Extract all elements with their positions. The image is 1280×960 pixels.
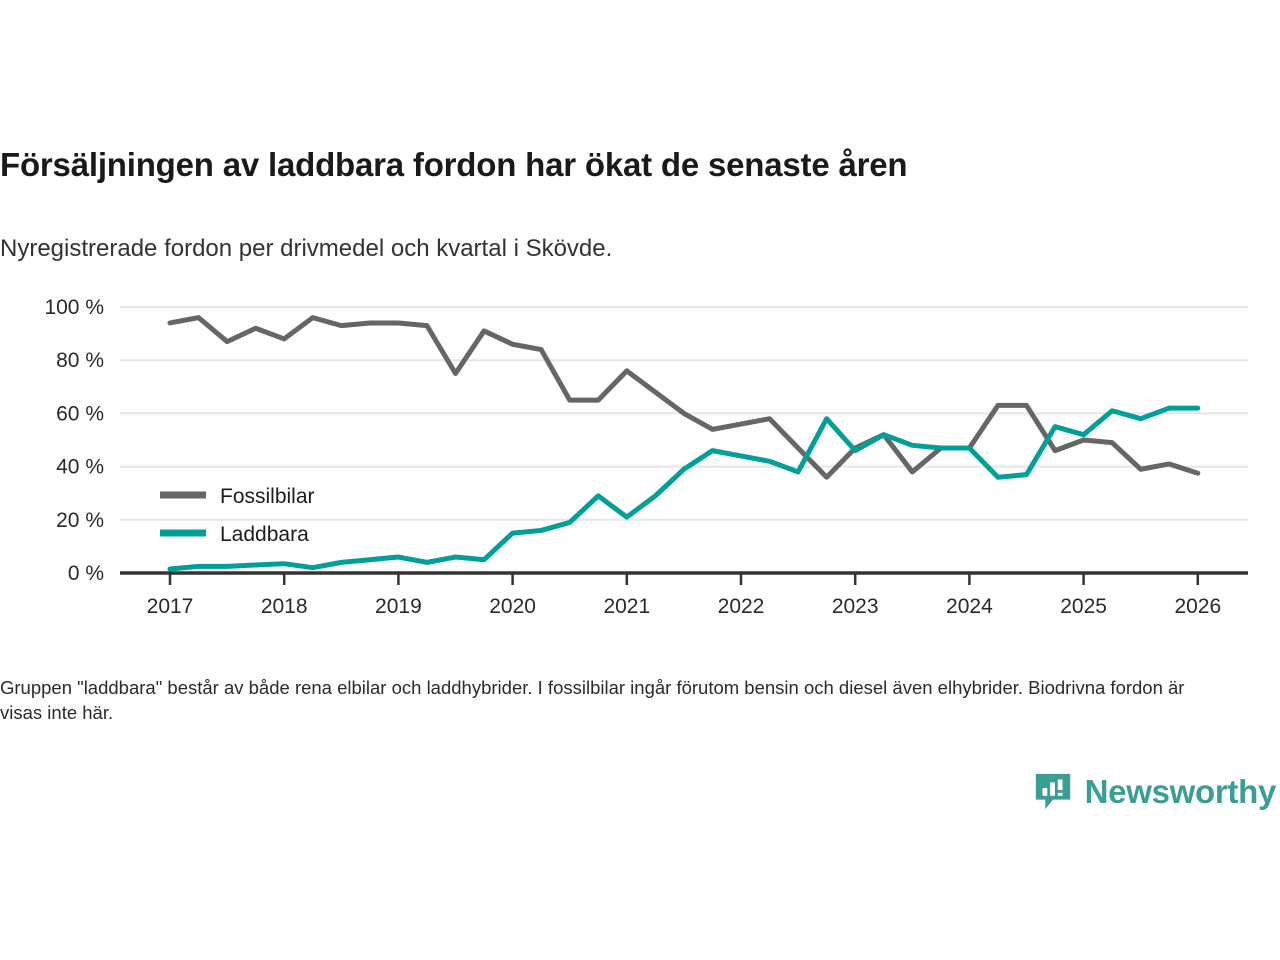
y-axis-tick-label: 80 % <box>56 349 104 372</box>
x-axis-tick-label: 2023 <box>832 595 879 618</box>
newsworthy-logo: Newsworthy <box>1032 770 1276 812</box>
y-axis-tick-label: 20 % <box>56 509 104 532</box>
logo-wordmark: Newsworthy <box>1085 775 1276 808</box>
legend-label-laddbara: Laddbara <box>220 523 309 546</box>
x-axis-ticks <box>170 573 1198 585</box>
y-axis-tick-label: 40 % <box>56 456 104 479</box>
chart-legend: FossilbilarLaddbara <box>160 485 315 546</box>
y-axis-tick-labels: 0 %20 %40 %60 %80 %100 % <box>44 296 104 585</box>
x-axis-tick-label: 2017 <box>147 595 194 618</box>
series-line-fossilbilar <box>170 318 1198 478</box>
chart-page: Försäljningen av laddbara fordon har öka… <box>0 0 1280 960</box>
series-lines <box>170 318 1198 569</box>
x-axis-tick-label: 2021 <box>603 595 650 618</box>
y-axis-tick-label: 100 % <box>44 296 104 319</box>
x-axis-tick-label: 2018 <box>261 595 308 618</box>
legend-label-fossilbilar: Fossilbilar <box>220 485 315 508</box>
x-axis-tick-label: 2024 <box>946 595 993 618</box>
bar-chart-speech-bubble-icon <box>1032 770 1074 812</box>
x-axis-tick-label: 2019 <box>375 595 422 618</box>
y-axis-tick-label: 0 % <box>68 562 104 585</box>
x-axis-tick-label: 2026 <box>1174 595 1221 618</box>
page-title: Försäljningen av laddbara fordon har öka… <box>0 146 907 184</box>
chart-svg: 0 %20 %40 %60 %80 %100 % 201720182019202… <box>0 290 1280 630</box>
y-axis-tick-label: 60 % <box>56 402 104 425</box>
line-chart: 0 %20 %40 %60 %80 %100 % 201720182019202… <box>0 290 1280 630</box>
page-subtitle: Nyregistrerade fordon per drivmedel och … <box>0 235 612 263</box>
x-axis-tick-label: 2025 <box>1060 595 1107 618</box>
x-axis-tick-label: 2020 <box>489 595 536 618</box>
x-axis-tick-labels: 2017201820192020202120222023202420252026 <box>147 595 1222 618</box>
chart-footnote: Gruppen "laddbara" består av både rena e… <box>0 676 1215 725</box>
x-axis-tick-label: 2022 <box>718 595 765 618</box>
